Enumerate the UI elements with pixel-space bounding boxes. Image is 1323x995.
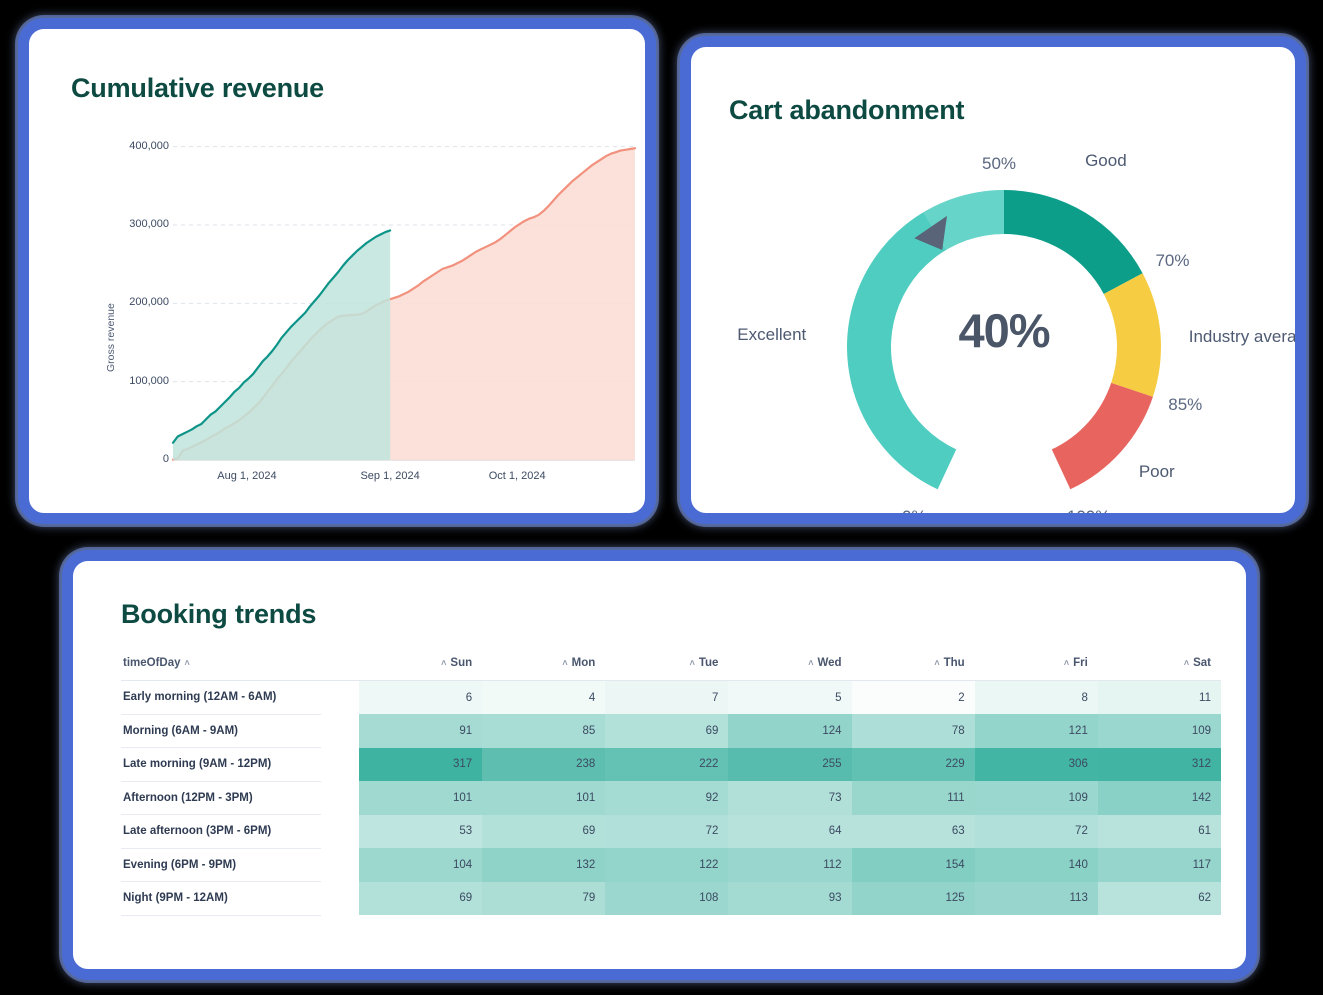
heatmap-cell: 69 xyxy=(359,882,482,916)
table-row: Evening (6PM - 9PM)104132122112154140117 xyxy=(121,848,1221,882)
table-head: timeOfDay˄˄Sun˄Mon˄Tue˄Wed˄Thu˄Fri˄Sat xyxy=(121,657,1221,681)
table-body: Early morning (12AM - 6AM)64752811Mornin… xyxy=(121,681,1221,916)
column-header-sun[interactable]: ˄Sun xyxy=(359,657,482,681)
gauge-tick-85: 85% xyxy=(1168,395,1202,415)
heatmap-cell: 72 xyxy=(975,815,1098,849)
sort-caret-up-icon[interactable]: ˄ xyxy=(690,658,695,668)
heatmap-cell: 122 xyxy=(605,848,728,882)
heatmap-cell: 109 xyxy=(975,781,1098,815)
column-header-sat[interactable]: ˄Sat xyxy=(1098,657,1221,681)
heatmap-cell: 113 xyxy=(975,882,1098,916)
column-header-thu[interactable]: ˄Thu xyxy=(852,657,975,681)
page-title-cumulative-revenue: Cumulative revenue xyxy=(71,73,324,104)
heatmap-cell: 11 xyxy=(1098,681,1221,715)
heatmap-cell: 101 xyxy=(482,781,605,815)
row-label: Evening (6PM - 9PM) xyxy=(121,848,321,882)
column-header-label: Sat xyxy=(1193,657,1211,669)
previous-period-area xyxy=(173,230,390,460)
heatmap-cell: 79 xyxy=(482,882,605,916)
heatmap-cell: 109 xyxy=(1098,714,1221,748)
heatmap-cell: 4 xyxy=(482,681,605,715)
row-spacer xyxy=(321,848,359,882)
heatmap-cell: 69 xyxy=(482,815,605,849)
gauge-tick-70: 70% xyxy=(1155,251,1189,271)
row-label: Late afternoon (3PM - 6PM) xyxy=(121,815,321,849)
heatmap-cell: 124 xyxy=(728,714,851,748)
column-header-tue[interactable]: ˄Tue xyxy=(605,657,728,681)
row-label: Afternoon (12PM - 3PM) xyxy=(121,781,321,815)
row-spacer xyxy=(321,681,359,715)
cumulative-revenue-chart: Gross revenue 0100,000200,000300,000400,… xyxy=(53,117,643,512)
heatmap-cell: 111 xyxy=(852,781,975,815)
row-label: Early morning (12AM - 6AM) xyxy=(121,681,321,715)
heatmap-cell: 5 xyxy=(728,681,851,715)
sort-caret-up-icon[interactable]: ˄ xyxy=(562,658,567,668)
heatmap-cell: 154 xyxy=(852,848,975,882)
heatmap-cell: 104 xyxy=(359,848,482,882)
heatmap-cell: 64 xyxy=(728,815,851,849)
sort-caret-up-icon[interactable]: ˄ xyxy=(441,658,446,668)
gauge-label-poor: Poor xyxy=(1139,462,1175,482)
row-label: Late morning (9AM - 12PM) xyxy=(121,748,321,782)
column-header-label: Tue xyxy=(699,657,719,669)
gauge-tick-100: 100% xyxy=(1067,507,1110,524)
gauge-band-good xyxy=(1004,190,1143,294)
sort-caret-up-icon[interactable]: ˄ xyxy=(1064,658,1069,668)
gauge-label-good: Good xyxy=(1085,151,1127,171)
heatmap-cell: 117 xyxy=(1098,848,1221,882)
heatmap-cell: 238 xyxy=(482,748,605,782)
sort-caret-up-icon[interactable]: ˄ xyxy=(934,658,939,668)
table-header-row: timeOfDay˄˄Sun˄Mon˄Tue˄Wed˄Thu˄Fri˄Sat xyxy=(121,657,1221,681)
heatmap-cell: 222 xyxy=(605,748,728,782)
heatmap-cell: 8 xyxy=(975,681,1098,715)
dashboard-stage: Cumulative revenue Gross revenue 0100,00… xyxy=(0,0,1323,995)
gauge-label-excellent: Excellent xyxy=(737,325,806,345)
heatmap-cell: 73 xyxy=(728,781,851,815)
heatmap-cell: 142 xyxy=(1098,781,1221,815)
heatmap-cell: 112 xyxy=(728,848,851,882)
heatmap-cell: 255 xyxy=(728,748,851,782)
heatmap-cell: 7 xyxy=(605,681,728,715)
heatmap-cell: 53 xyxy=(359,815,482,849)
heatmap-cell: 317 xyxy=(359,748,482,782)
column-header-wed[interactable]: ˄Wed xyxy=(728,657,851,681)
revenue-area-svg xyxy=(53,117,643,512)
sort-caret-up-icon[interactable]: ˄ xyxy=(808,658,813,668)
table-row: Early morning (12AM - 6AM)64752811 xyxy=(121,681,1221,715)
heatmap-cell: 140 xyxy=(975,848,1098,882)
row-label: Morning (6AM - 9AM) xyxy=(121,714,321,748)
column-header-label: Wed xyxy=(817,657,841,669)
column-header-timeofday[interactable]: timeOfDay˄ xyxy=(121,657,321,681)
heatmap-cell: 63 xyxy=(852,815,975,849)
heatmap-cell: 93 xyxy=(728,882,851,916)
table-row: Morning (6AM - 9AM)91856912478121109 xyxy=(121,714,1221,748)
column-header-fri[interactable]: ˄Fri xyxy=(975,657,1098,681)
heatmap-cell: 306 xyxy=(975,748,1098,782)
table-row: Night (9PM - 12AM)69791089312511362 xyxy=(121,882,1221,916)
table-row: Late morning (9AM - 12PM)317238222255229… xyxy=(121,748,1221,782)
gauge-label-industry-average: Industry average xyxy=(1189,327,1306,347)
heatmap-cell: 92 xyxy=(605,781,728,815)
heatmap-cell: 72 xyxy=(605,815,728,849)
row-spacer xyxy=(321,748,359,782)
row-spacer xyxy=(321,714,359,748)
heatmap-cell: 108 xyxy=(605,882,728,916)
booking-trends-table-wrap: timeOfDay˄˄Sun˄Mon˄Tue˄Wed˄Thu˄Fri˄Sat E… xyxy=(121,657,1221,916)
row-spacer xyxy=(321,882,359,916)
heatmap-cell: 69 xyxy=(605,714,728,748)
card-cumulative-revenue: Cumulative revenue Gross revenue 0100,00… xyxy=(18,18,656,524)
heatmap-cell: 78 xyxy=(852,714,975,748)
heatmap-cell: 121 xyxy=(975,714,1098,748)
card-booking-trends: Booking trends timeOfDay˄˄Sun˄Mon˄Tue˄We… xyxy=(62,550,1257,980)
sort-caret-up-icon[interactable]: ˄ xyxy=(1184,658,1189,668)
column-header-mon[interactable]: ˄Mon xyxy=(482,657,605,681)
page-title-booking-trends: Booking trends xyxy=(121,599,316,630)
column-header-label: timeOfDay xyxy=(123,657,181,669)
heatmap-cell: 85 xyxy=(482,714,605,748)
heatmap-cell: 125 xyxy=(852,882,975,916)
booking-trends-table: timeOfDay˄˄Sun˄Mon˄Tue˄Wed˄Thu˄Fri˄Sat E… xyxy=(121,657,1221,916)
column-header-label: Mon xyxy=(572,657,596,669)
heatmap-cell: 229 xyxy=(852,748,975,782)
row-label: Night (9PM - 12AM) xyxy=(121,882,321,916)
column-header-label: Sun xyxy=(450,657,472,669)
column-header-label: Fri xyxy=(1073,657,1088,669)
heatmap-cell: 312 xyxy=(1098,748,1221,782)
cart-abandonment-gauge: 40% 0%50%70%85%100%ExcellentGoodIndustry… xyxy=(711,107,1297,517)
column-header-label: Thu xyxy=(944,657,965,669)
row-spacer xyxy=(321,781,359,815)
sort-caret-up-icon[interactable]: ˄ xyxy=(185,658,190,668)
gauge-tick-50: 50% xyxy=(982,154,1016,174)
heatmap-cell: 91 xyxy=(359,714,482,748)
column-spacer xyxy=(321,657,359,681)
heatmap-cell: 101 xyxy=(359,781,482,815)
heatmap-cell: 132 xyxy=(482,848,605,882)
gauge-tick-0: 0% xyxy=(902,507,927,524)
table-row: Late afternoon (3PM - 6PM)53697264637261 xyxy=(121,815,1221,849)
heatmap-cell: 6 xyxy=(359,681,482,715)
row-spacer xyxy=(321,815,359,849)
card-cart-abandonment: Cart abandonment 40% 0%50%70%85%100%Exce… xyxy=(680,36,1306,524)
table-row: Afternoon (12PM - 3PM)101101927311110914… xyxy=(121,781,1221,815)
heatmap-cell: 62 xyxy=(1098,882,1221,916)
heatmap-cell: 61 xyxy=(1098,815,1221,849)
heatmap-cell: 2 xyxy=(852,681,975,715)
gauge-band-poor xyxy=(1052,383,1153,489)
